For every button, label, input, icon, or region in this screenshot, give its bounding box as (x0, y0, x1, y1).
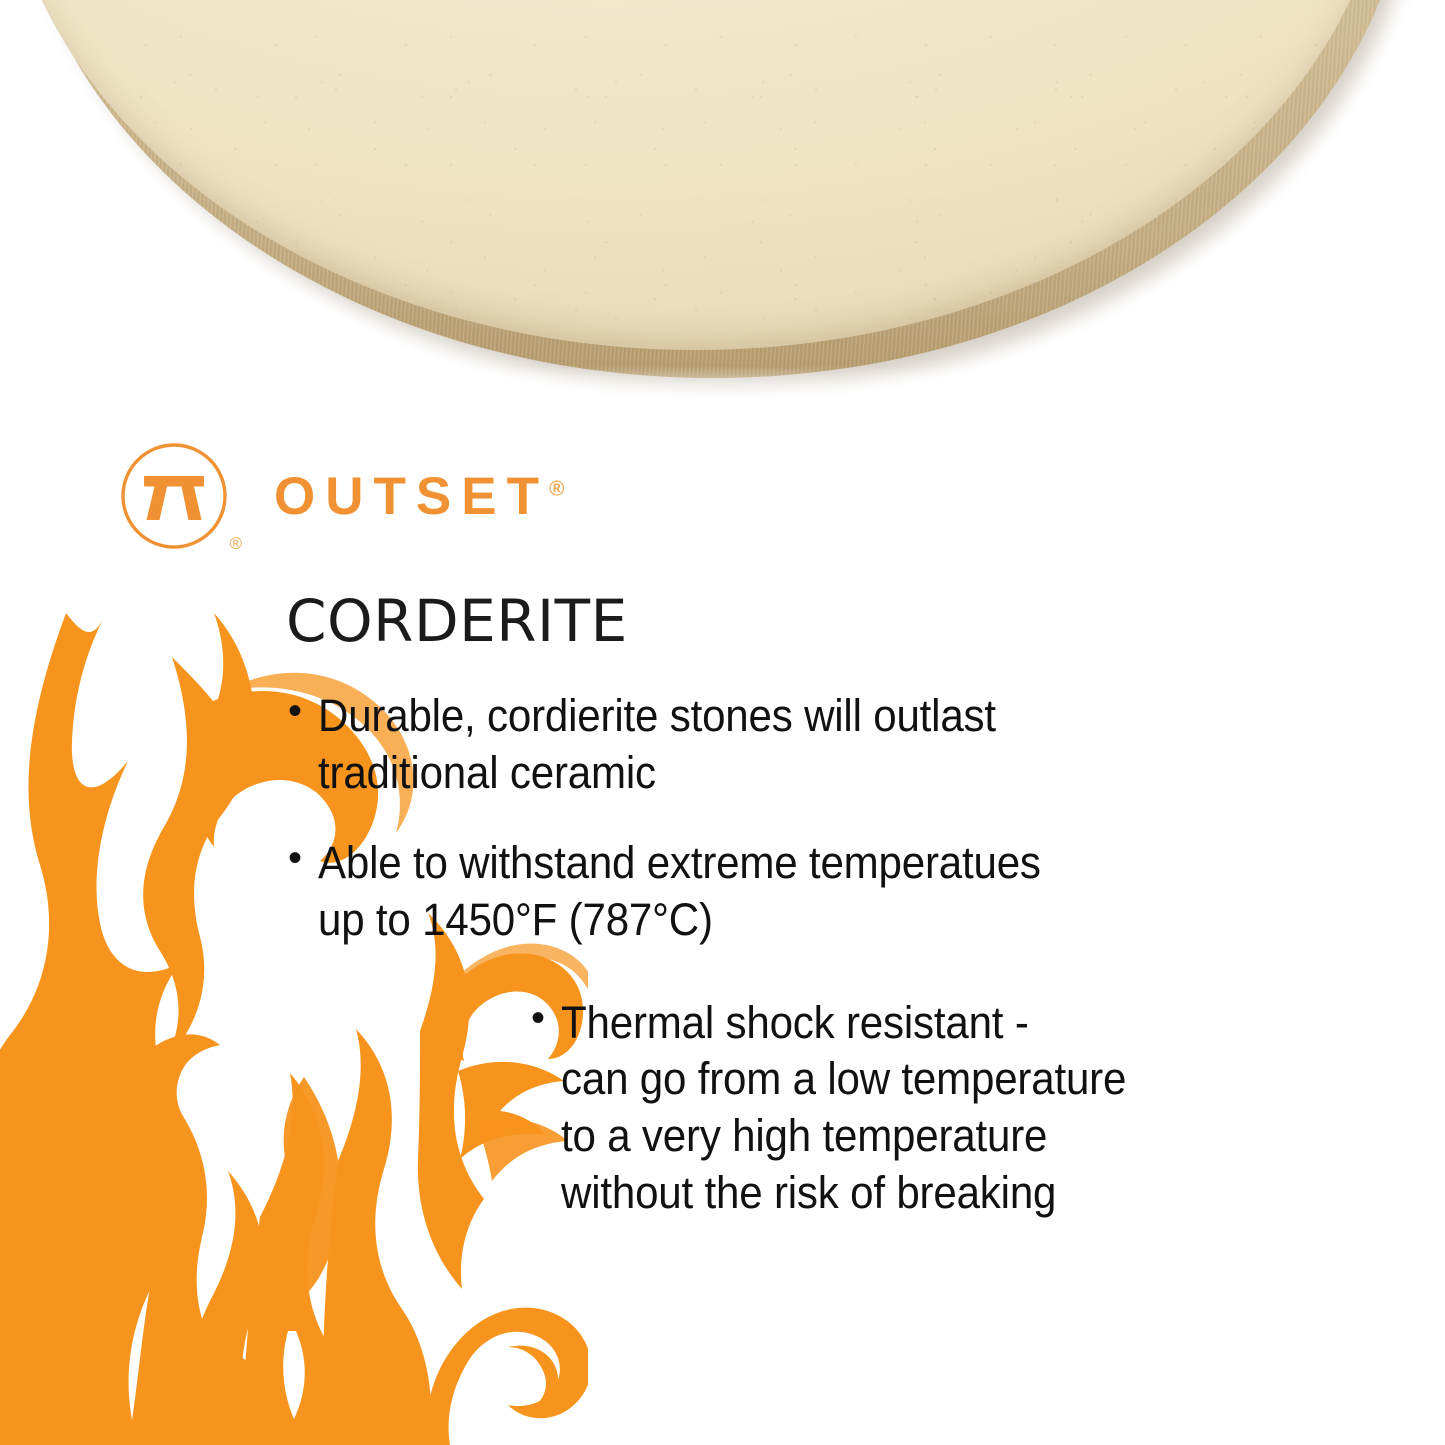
photo-bottom-fade (0, 366, 1445, 420)
bullet-dot-icon: • (288, 835, 318, 882)
bullet-dot-icon: • (288, 688, 318, 735)
outset-logo-icon: ® (118, 440, 230, 552)
product-photo-pizza-stone (0, 0, 1445, 420)
list-item-text: Able to withstand extreme temperatues up… (318, 835, 1041, 948)
bullet-dot-icon: • (531, 995, 561, 1042)
stone-top-face (0, 0, 1392, 350)
list-item-text: Thermal shock resistant - can go from a … (561, 995, 1126, 1222)
brand-wordmark: OUTSET® (274, 470, 564, 523)
brand-lockup: ® OUTSET® (118, 437, 564, 555)
list-item: • Durable, cordierite stones will outlas… (286, 688, 1396, 801)
content-block: CORDERITE • Durable, cordierite stones w… (286, 592, 1396, 1222)
brand-wordmark-text: OUTSET (274, 467, 549, 526)
list-item: • Thermal shock resistant - can go from … (529, 995, 1396, 1222)
page-title: CORDERITE (286, 592, 1396, 650)
feature-list: • Durable, cordierite stones will outlas… (286, 688, 1396, 1222)
list-item: • Able to withstand extreme temperatues … (286, 835, 1396, 948)
logo-registered-icon: ® (229, 535, 242, 552)
infographic-page: ® OUTSET® CORDERITE • Durable, cordierit… (0, 0, 1445, 1445)
stone-grain-texture (0, 0, 1392, 350)
wordmark-registered-icon: ® (549, 477, 564, 500)
list-item-text: Durable, cordierite stones will outlast … (318, 688, 996, 801)
